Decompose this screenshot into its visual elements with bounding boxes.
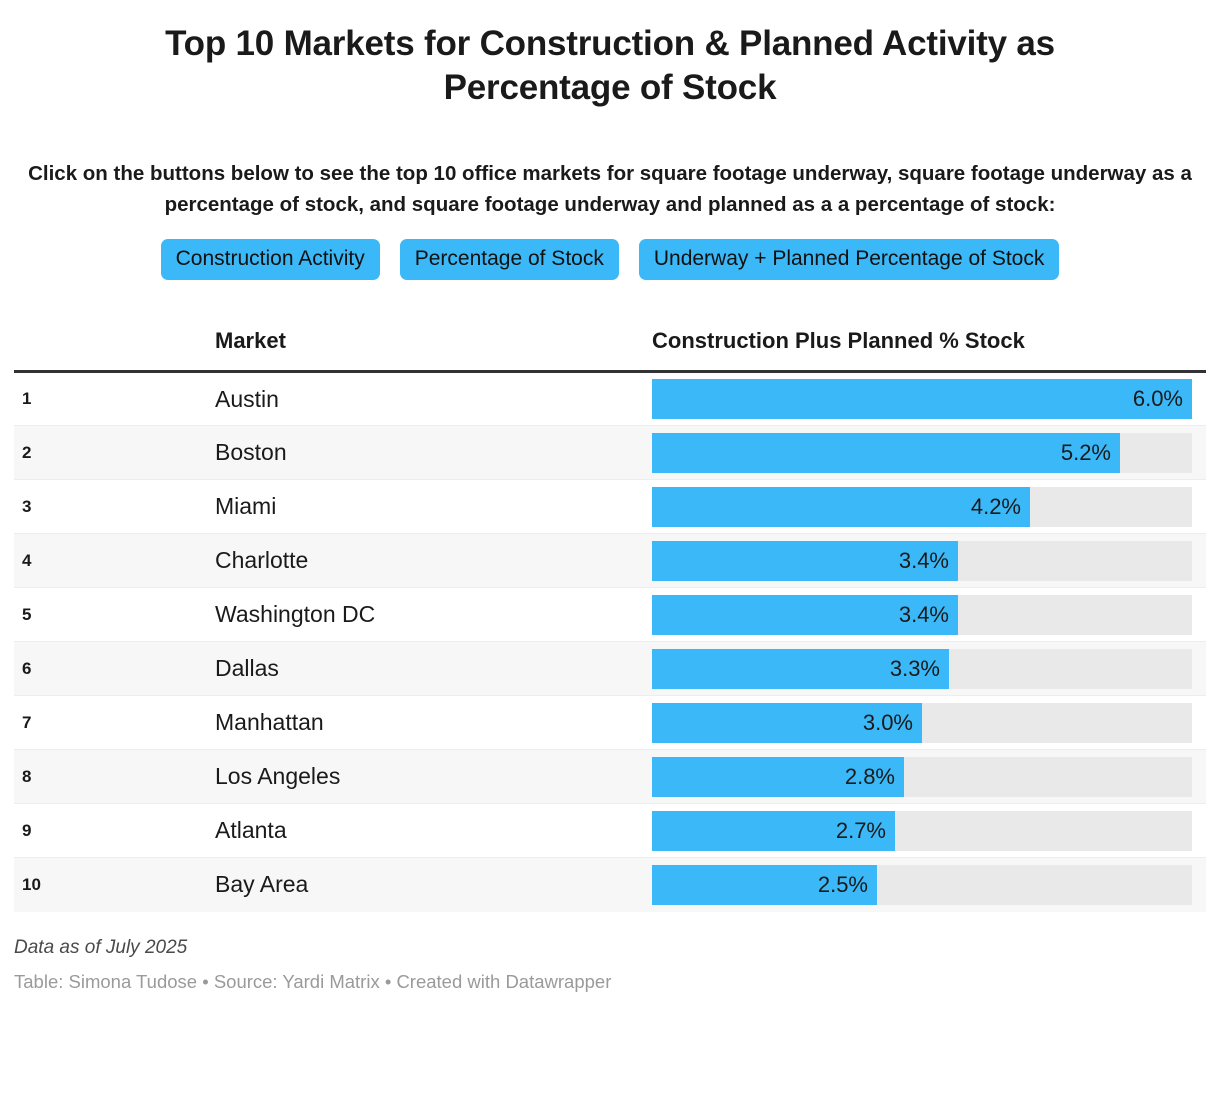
row-market-name: Washington DC xyxy=(114,588,640,642)
table-row: 1Austin6.0% xyxy=(14,372,1206,426)
bar-value-label: 4.2% xyxy=(971,494,1030,520)
button-construction-activity[interactable]: Construction Activity xyxy=(161,239,380,280)
bar-track: 2.8% xyxy=(652,757,1192,797)
row-rank: 5 xyxy=(14,588,114,642)
bar-track: 6.0% xyxy=(652,379,1192,419)
row-market-name: Charlotte xyxy=(114,534,640,588)
table-container: Market Construction Plus Planned % Stock… xyxy=(0,328,1220,912)
footer: Data as of July 2025 Table: Simona Tudos… xyxy=(0,912,1220,995)
bar-value-label: 3.4% xyxy=(899,602,958,628)
row-rank: 4 xyxy=(14,534,114,588)
table-body: 1Austin6.0%2Boston5.2%3Miami4.2%4Charlot… xyxy=(14,372,1206,912)
table-row: 4Charlotte3.4% xyxy=(14,534,1206,588)
bar-value-label: 2.5% xyxy=(818,872,877,898)
table-row: 7Manhattan3.0% xyxy=(14,696,1206,750)
bar-value-label: 2.8% xyxy=(845,764,904,790)
row-rank: 3 xyxy=(14,480,114,534)
row-bar-cell: 3.4% xyxy=(640,534,1206,588)
table-header-row: Market Construction Plus Planned % Stock xyxy=(14,328,1206,372)
bar-track: 2.5% xyxy=(652,865,1192,905)
bar-value-label: 3.3% xyxy=(890,656,949,682)
table-row: 3Miami4.2% xyxy=(14,480,1206,534)
table-row: 10Bay Area2.5% xyxy=(14,858,1206,912)
button-percentage-of-stock[interactable]: Percentage of Stock xyxy=(400,239,619,280)
markets-table: Market Construction Plus Planned % Stock… xyxy=(14,328,1206,912)
bar-fill: 2.8% xyxy=(652,757,904,797)
column-header-value: Construction Plus Planned % Stock xyxy=(640,328,1206,372)
bar-value-label: 6.0% xyxy=(1133,386,1192,412)
row-market-name: Los Angeles xyxy=(114,750,640,804)
row-market-name: Atlanta xyxy=(114,804,640,858)
bar-fill: 4.2% xyxy=(652,487,1030,527)
row-rank: 2 xyxy=(14,426,114,480)
bar-fill: 5.2% xyxy=(652,433,1120,473)
row-bar-cell: 3.0% xyxy=(640,696,1206,750)
bar-track: 3.0% xyxy=(652,703,1192,743)
table-row: 5Washington DC3.4% xyxy=(14,588,1206,642)
bar-track: 4.2% xyxy=(652,487,1192,527)
row-bar-cell: 5.2% xyxy=(640,426,1206,480)
bar-value-label: 3.4% xyxy=(899,548,958,574)
row-bar-cell: 2.7% xyxy=(640,804,1206,858)
row-market-name: Bay Area xyxy=(114,858,640,912)
bar-fill: 2.5% xyxy=(652,865,877,905)
bar-fill: 2.7% xyxy=(652,811,895,851)
bar-track: 3.4% xyxy=(652,541,1192,581)
row-bar-cell: 6.0% xyxy=(640,372,1206,426)
column-header-rank xyxy=(14,328,114,372)
bar-track: 3.4% xyxy=(652,595,1192,635)
bar-fill: 3.4% xyxy=(652,541,958,581)
bar-track: 2.7% xyxy=(652,811,1192,851)
row-bar-cell: 2.8% xyxy=(640,750,1206,804)
row-rank: 7 xyxy=(14,696,114,750)
column-header-market: Market xyxy=(114,328,640,372)
table-header: Market Construction Plus Planned % Stock xyxy=(14,328,1206,372)
row-market-name: Austin xyxy=(114,372,640,426)
row-bar-cell: 3.3% xyxy=(640,642,1206,696)
bar-fill: 6.0% xyxy=(652,379,1192,419)
bar-value-label: 5.2% xyxy=(1061,440,1120,466)
footer-credit: Table: Simona Tudose • Source: Yardi Mat… xyxy=(14,969,1206,995)
row-rank: 6 xyxy=(14,642,114,696)
button-underway-planned-percentage-of-stock[interactable]: Underway + Planned Percentage of Stock xyxy=(639,239,1060,280)
bar-fill: 3.4% xyxy=(652,595,958,635)
bar-track: 3.3% xyxy=(652,649,1192,689)
table-row: 6Dallas3.3% xyxy=(14,642,1206,696)
row-rank: 9 xyxy=(14,804,114,858)
table-row: 9Atlanta2.7% xyxy=(14,804,1206,858)
bar-track: 5.2% xyxy=(652,433,1192,473)
row-market-name: Manhattan xyxy=(114,696,640,750)
row-rank: 8 xyxy=(14,750,114,804)
page-title: Top 10 Markets for Construction & Planne… xyxy=(0,0,1220,110)
row-rank: 10 xyxy=(14,858,114,912)
row-market-name: Boston xyxy=(114,426,640,480)
page-subtitle: Click on the buttons below to see the to… xyxy=(0,158,1220,222)
bar-fill: 3.0% xyxy=(652,703,922,743)
bar-value-label: 2.7% xyxy=(836,818,895,844)
bar-value-label: 3.0% xyxy=(863,710,922,736)
row-market-name: Dallas xyxy=(114,642,640,696)
table-row: 2Boston5.2% xyxy=(14,426,1206,480)
view-selector-buttons: Construction Activity Percentage of Stoc… xyxy=(0,239,1220,280)
row-market-name: Miami xyxy=(114,480,640,534)
bar-fill: 3.3% xyxy=(652,649,949,689)
row-bar-cell: 3.4% xyxy=(640,588,1206,642)
footer-data-date: Data as of July 2025 xyxy=(14,934,1206,963)
chart-page: Top 10 Markets for Construction & Planne… xyxy=(0,0,1220,1110)
row-rank: 1 xyxy=(14,372,114,426)
row-bar-cell: 4.2% xyxy=(640,480,1206,534)
table-row: 8Los Angeles2.8% xyxy=(14,750,1206,804)
row-bar-cell: 2.5% xyxy=(640,858,1206,912)
